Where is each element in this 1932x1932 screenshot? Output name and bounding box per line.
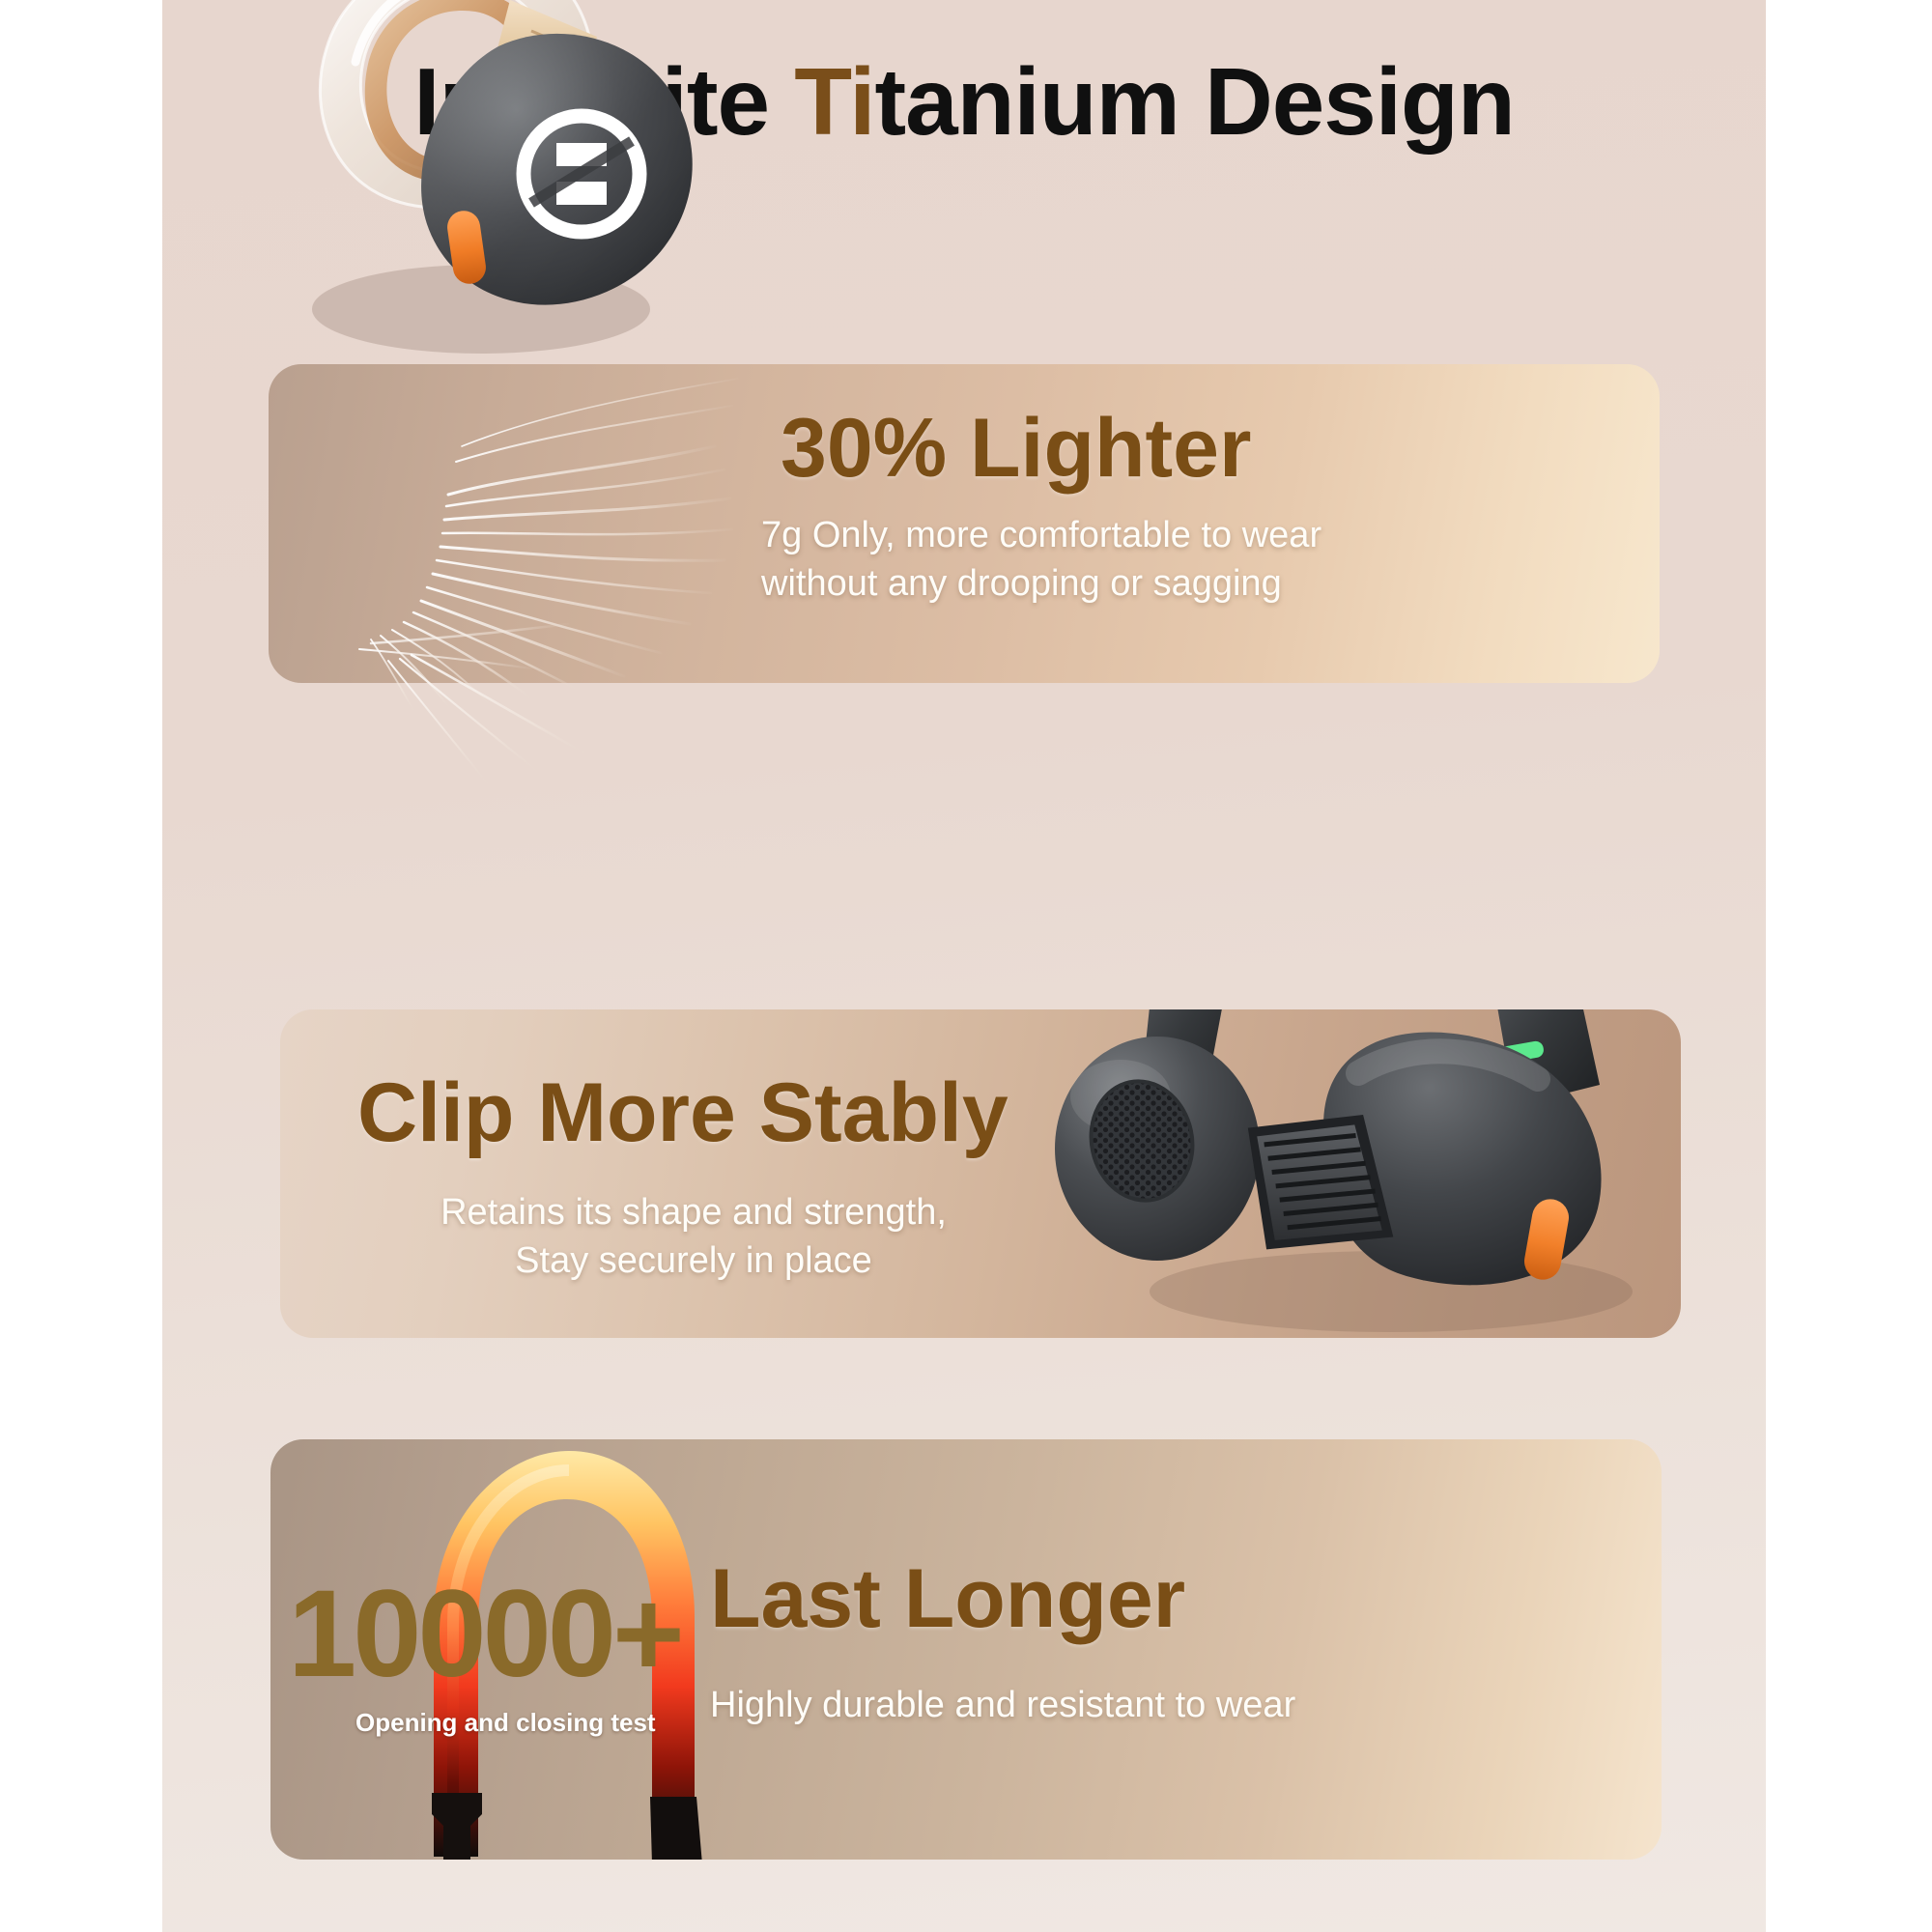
feature-card-durable: 10000+ Opening and closing test Last Lon… — [270, 1439, 1662, 1860]
u-clip-right-tip — [650, 1797, 702, 1860]
card-subtext-line2: without any drooping or sagging — [761, 559, 1321, 608]
card-subtext-line2: Stay securely in place — [384, 1236, 1003, 1285]
earbuds-clip-pair-image — [1034, 1009, 1681, 1338]
screenshot-root: Innovite Titanium Design 30% Lighter 7g … — [0, 0, 1932, 1932]
card-subtext-durable: Highly durable and resistant to wear — [710, 1681, 1295, 1729]
card-subtext-line1: Highly durable and resistant to wear — [710, 1681, 1295, 1729]
product-infographic-canvas: Innovite Titanium Design 30% Lighter 7g … — [162, 0, 1766, 1932]
card-headline-durable: Last Longer — [710, 1555, 1185, 1642]
card-subtext-clip: Retains its shape and strength, Stay sec… — [384, 1188, 1003, 1285]
card-subtext-line1: 7g Only, more comfortable to wear — [761, 511, 1321, 559]
card-headline-lighter: 30% Lighter — [781, 405, 1251, 492]
title-accent-ti: Ti — [794, 48, 874, 155]
earbud-with-feather-image — [191, 0, 732, 473]
durability-count-caption: Opening and closing test — [355, 1708, 656, 1738]
title-suffix: tanium Design — [875, 48, 1515, 155]
card-subtext-line1: Retains its shape and strength, — [384, 1188, 1003, 1236]
feature-card-clip: Clip More Stably Retains its shape and s… — [280, 1009, 1681, 1338]
durability-count-badge: 10000+ — [288, 1563, 681, 1705]
card-subtext-lighter: 7g Only, more comfortable to wear withou… — [761, 511, 1321, 608]
card-headline-clip: Clip More Stably — [357, 1069, 1009, 1156]
